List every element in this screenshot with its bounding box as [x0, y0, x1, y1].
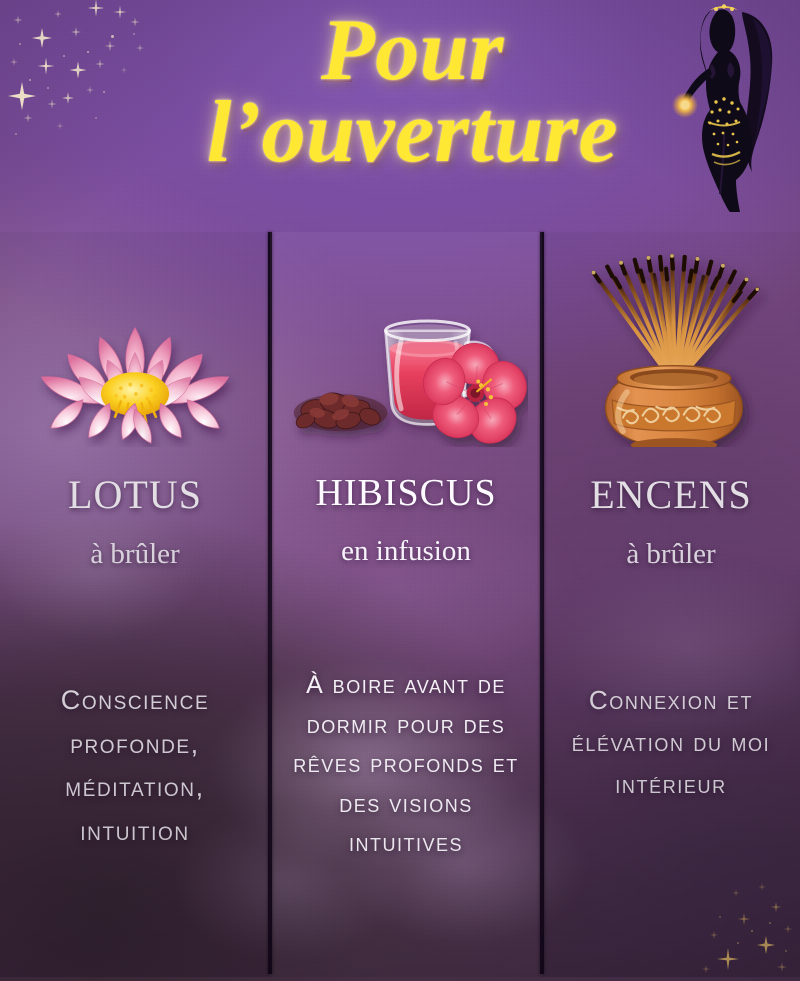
column-subheading: en infusion: [341, 535, 471, 568]
column-body-text: À boire avant de dormir pour des rêves p…: [276, 666, 536, 864]
lotus-flower-icon: [0, 232, 270, 447]
column-heading: ENCENS: [590, 471, 752, 518]
columns-container: LOTUS à brûler Conscience profonde, médi…: [0, 232, 800, 977]
column-heading: LOTUS: [68, 471, 202, 518]
column-encens: ENCENS à brûler Connexion et élévation d…: [542, 232, 800, 977]
column-body-text: Connexion et élévation du moi intérieur: [542, 679, 800, 805]
column-subheading: à brûler: [90, 538, 179, 571]
hibiscus-tea-icon: [270, 232, 542, 447]
column-body-text: Conscience profonde, méditation, intuiti…: [5, 679, 265, 854]
title-line-2: l’ouverture: [120, 90, 705, 176]
column-hibiscus: HIBISCUS en infusion À boire avant de do…: [270, 232, 542, 977]
column-lotus: LOTUS à brûler Conscience profonde, médi…: [0, 232, 270, 977]
column-heading: HIBISCUS: [315, 471, 496, 515]
poster-canvas: Pour l’ouverture: [0, 0, 800, 981]
incense-pot-icon: [542, 232, 800, 447]
page-title: Pour l’ouverture: [0, 8, 800, 176]
title-line-1: Pour: [120, 8, 705, 94]
column-subheading: à brûler: [626, 538, 715, 571]
